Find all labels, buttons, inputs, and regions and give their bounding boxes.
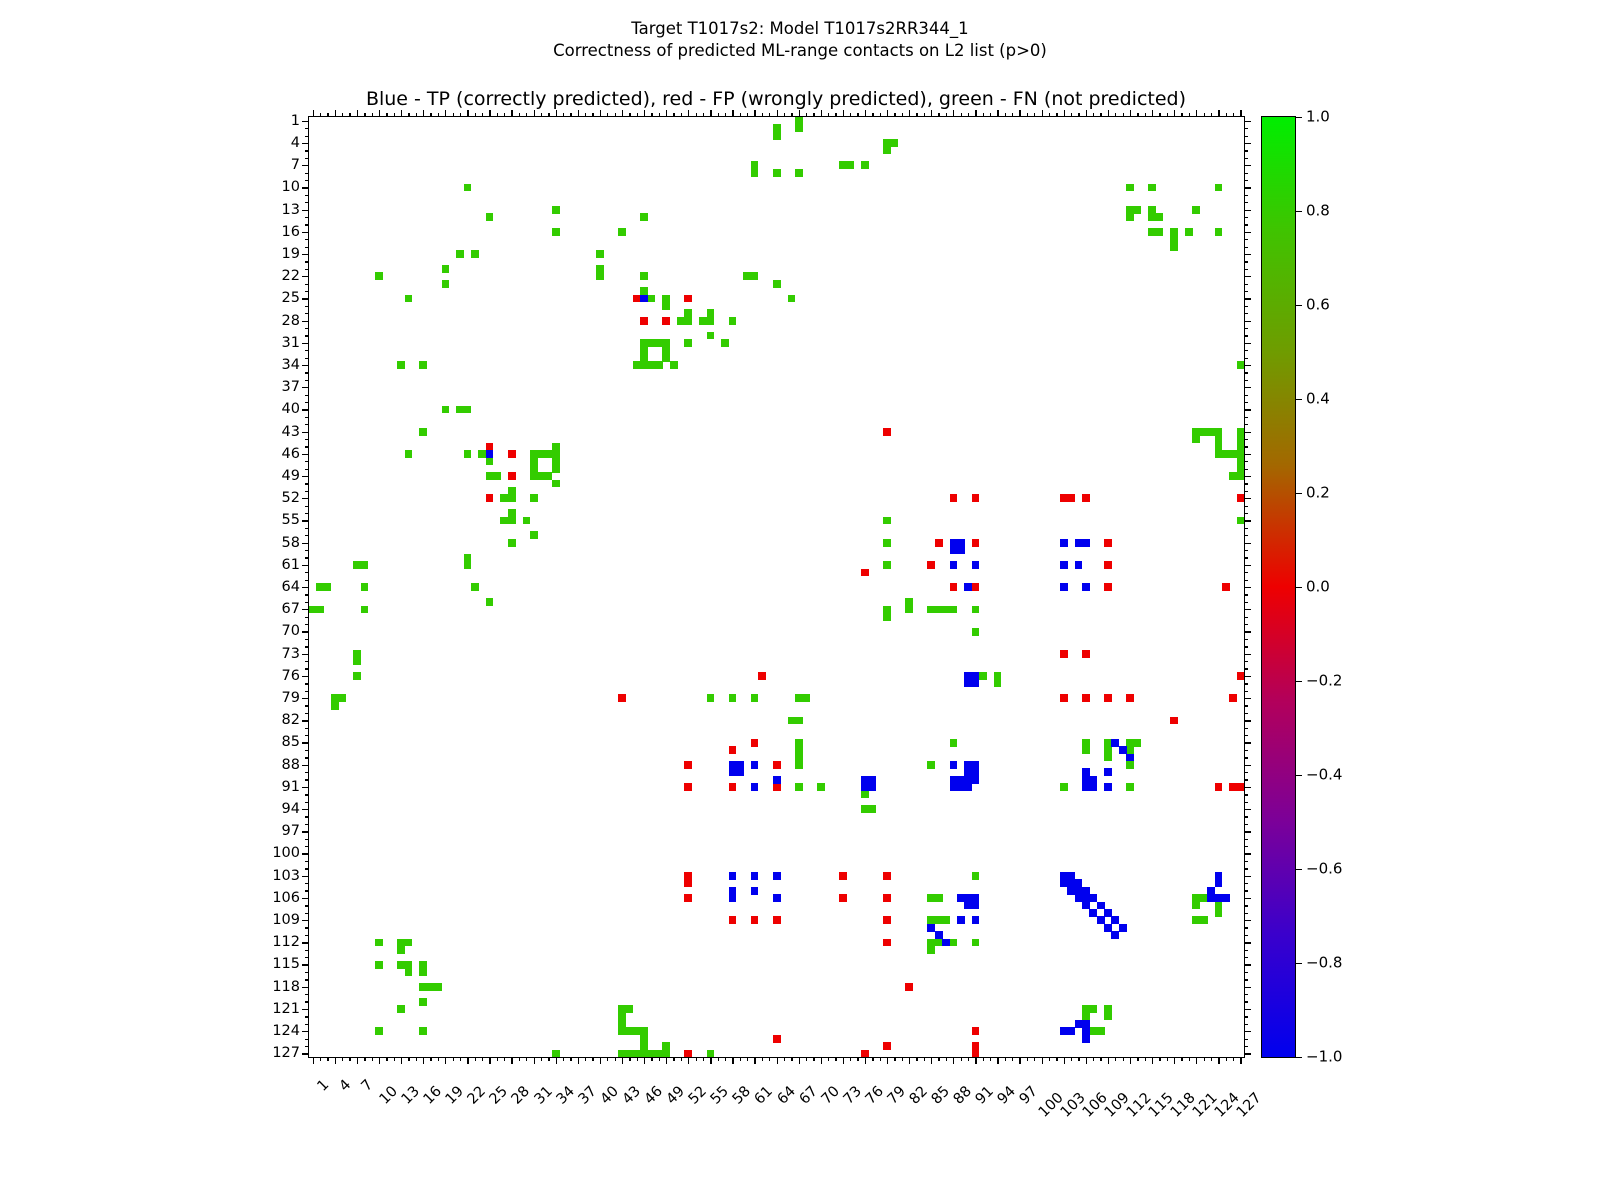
y-axis-tick-right xyxy=(1244,713,1248,714)
fn-cell xyxy=(1185,228,1193,236)
fn-cell xyxy=(773,169,781,177)
fn-cell xyxy=(869,805,877,813)
x-axis-tick xyxy=(777,1057,778,1064)
y-axis-tick xyxy=(302,165,309,166)
fn-cell xyxy=(972,939,980,947)
fn-cell xyxy=(508,539,516,547)
fn-cell xyxy=(464,184,472,192)
y-axis-tick-right xyxy=(1244,121,1251,122)
fp-cell xyxy=(883,916,891,924)
tp-cell xyxy=(736,768,744,776)
fn-cell xyxy=(795,717,803,725)
x-axis-tick-top xyxy=(453,113,454,117)
tp-cell xyxy=(972,680,980,688)
y-axis-tick-right xyxy=(1244,765,1251,766)
y-axis-tick-right xyxy=(1244,987,1251,988)
fn-cell xyxy=(1104,754,1112,762)
y-axis-tick xyxy=(305,247,309,248)
y-axis-label: 76 xyxy=(282,669,300,684)
x-axis-tick-top xyxy=(924,113,925,117)
x-axis-tick-top xyxy=(313,110,314,117)
x-axis-label: 127 xyxy=(1235,1091,1265,1121)
x-axis-tick-top xyxy=(1211,113,1212,117)
y-axis-tick xyxy=(302,676,309,677)
x-axis-tick xyxy=(1167,1057,1168,1061)
y-axis-tick xyxy=(305,128,309,129)
y-axis-tick-right xyxy=(1244,557,1248,558)
x-axis-tick-top xyxy=(504,113,505,117)
fn-cell xyxy=(500,494,508,502)
y-axis-tick xyxy=(305,1016,309,1017)
fn-cell xyxy=(1192,206,1200,214)
fp-cell xyxy=(935,539,943,547)
y-axis-tick-right xyxy=(1244,261,1248,262)
x-axis-label: 10 xyxy=(377,1084,400,1107)
x-axis-tick xyxy=(570,1057,571,1061)
x-axis-label: 76 xyxy=(863,1084,886,1107)
tp-cell xyxy=(1222,894,1230,902)
x-axis-tick-top xyxy=(1181,113,1182,117)
x-axis-tick xyxy=(916,1057,917,1061)
fn-cell xyxy=(994,680,1002,688)
fn-cell xyxy=(464,450,472,458)
x-axis-tick xyxy=(585,1057,586,1061)
x-axis-label: 7 xyxy=(359,1078,376,1095)
x-axis-tick-top xyxy=(828,113,829,117)
x-axis-tick-top xyxy=(762,113,763,117)
y-axis-tick-right xyxy=(1244,728,1248,729)
tp-cell xyxy=(751,887,759,895)
x-axis-tick xyxy=(460,1057,461,1061)
y-axis-tick-right xyxy=(1244,846,1248,847)
x-axis-tick-top xyxy=(1167,113,1168,117)
x-axis-tick-top xyxy=(725,113,726,117)
y-axis-tick-right xyxy=(1244,498,1251,499)
x-axis-tick xyxy=(541,1057,542,1061)
fn-cell xyxy=(751,169,759,177)
contact-map-cells xyxy=(309,117,1244,1057)
fp-cell xyxy=(839,872,847,880)
colorbar-label: 0.8 xyxy=(1306,204,1330,219)
y-axis-tick xyxy=(302,1053,309,1054)
y-axis-tick xyxy=(305,883,309,884)
y-axis-label: 4 xyxy=(291,136,300,151)
x-axis-tick xyxy=(615,1057,616,1061)
contact-map-plot-area[interactable]: 1144771010131316161919222225252828313134… xyxy=(308,116,1245,1058)
colorbar-tick xyxy=(1295,399,1302,400)
y-axis-tick xyxy=(305,661,309,662)
y-axis-tick xyxy=(305,890,309,891)
x-axis-tick xyxy=(997,1057,998,1064)
y-axis-tick xyxy=(302,210,309,211)
tp-cell xyxy=(942,939,950,947)
y-axis-tick xyxy=(305,750,309,751)
y-axis-label: 124 xyxy=(272,1024,300,1039)
x-axis-tick xyxy=(357,1057,358,1064)
fn-cell xyxy=(1104,1013,1112,1021)
x-axis-tick-top xyxy=(401,110,402,117)
x-axis-tick-top xyxy=(865,110,866,117)
fn-cell xyxy=(795,783,803,791)
colorbar-label: −0.4 xyxy=(1306,768,1342,783)
fp-cell xyxy=(618,694,626,702)
x-axis-tick xyxy=(843,1057,844,1064)
y-axis-tick-right xyxy=(1244,298,1251,299)
y-axis-tick-right xyxy=(1244,853,1251,854)
y-axis-tick xyxy=(302,187,309,188)
y-axis-label: 97 xyxy=(282,824,300,839)
y-axis-tick-right xyxy=(1244,210,1251,211)
y-axis-tick-right xyxy=(1244,483,1248,484)
x-axis-tick-top xyxy=(357,110,358,117)
fp-cell xyxy=(1060,650,1068,658)
fn-cell xyxy=(1148,184,1156,192)
x-axis-tick xyxy=(556,1057,557,1064)
y-axis-tick xyxy=(302,565,309,566)
fp-cell xyxy=(729,746,737,754)
y-axis-tick xyxy=(305,979,309,980)
x-axis-tick-top xyxy=(784,113,785,117)
x-axis-tick-top xyxy=(556,110,557,117)
x-axis-tick xyxy=(629,1057,630,1061)
x-axis-tick-top xyxy=(320,113,321,117)
y-axis-tick xyxy=(305,572,309,573)
y-axis-tick xyxy=(302,654,309,655)
y-axis-tick xyxy=(302,853,309,854)
y-axis-tick-right xyxy=(1244,136,1248,137)
y-axis-tick-right xyxy=(1244,572,1248,573)
x-axis-tick-top xyxy=(548,113,549,117)
y-axis-tick-right xyxy=(1244,506,1248,507)
x-axis-tick xyxy=(482,1057,483,1061)
y-axis-tick-right xyxy=(1244,609,1251,610)
fp-cell xyxy=(1082,694,1090,702)
colorbar-tick xyxy=(1295,869,1302,870)
y-axis-tick-right xyxy=(1244,580,1248,581)
x-axis-tick-top xyxy=(1152,110,1153,117)
y-axis-label: 49 xyxy=(282,469,300,484)
x-axis-tick xyxy=(526,1057,527,1061)
y-axis-tick xyxy=(305,580,309,581)
y-axis-tick xyxy=(305,506,309,507)
y-axis-tick-right xyxy=(1244,824,1248,825)
fp-cell xyxy=(773,1035,781,1043)
x-axis-tick xyxy=(673,1057,674,1061)
tp-cell xyxy=(1111,931,1119,939)
y-axis-label: 103 xyxy=(272,868,300,883)
x-axis-tick xyxy=(1211,1057,1212,1061)
y-axis-tick-right xyxy=(1244,417,1248,418)
x-axis-tick xyxy=(659,1057,660,1061)
x-axis-label: 67 xyxy=(797,1084,820,1107)
fp-cell xyxy=(684,761,692,769)
x-axis-tick xyxy=(1189,1057,1190,1061)
x-axis-tick-top xyxy=(953,110,954,117)
y-axis-tick-right xyxy=(1244,742,1251,743)
x-axis-tick xyxy=(408,1057,409,1061)
x-axis-tick xyxy=(1012,1057,1013,1061)
y-axis-tick xyxy=(305,868,309,869)
tp-cell xyxy=(729,872,737,880)
y-axis-tick-right xyxy=(1244,128,1248,129)
x-axis-tick-top xyxy=(1123,113,1124,117)
fp-cell xyxy=(729,783,737,791)
x-axis-tick xyxy=(857,1057,858,1061)
fn-cell xyxy=(817,783,825,791)
x-axis-tick-top xyxy=(1137,113,1138,117)
y-axis-tick-right xyxy=(1244,927,1248,928)
y-axis-tick xyxy=(305,735,309,736)
fn-cell xyxy=(397,946,405,954)
x-axis-tick-top xyxy=(909,110,910,117)
fn-cell xyxy=(552,480,560,488)
y-axis-tick-right xyxy=(1244,387,1251,388)
x-axis-tick xyxy=(423,1057,424,1064)
x-axis-tick xyxy=(401,1057,402,1064)
y-axis-tick-right xyxy=(1244,313,1248,314)
fp-cell xyxy=(972,494,980,502)
fn-cell xyxy=(1089,1005,1097,1013)
fn-cell xyxy=(1097,1027,1105,1035)
x-axis-tick xyxy=(1064,1057,1065,1064)
y-axis-tick-right xyxy=(1244,735,1248,736)
y-axis-label: 22 xyxy=(282,269,300,284)
x-axis-tick-top xyxy=(799,110,800,117)
fn-cell xyxy=(707,317,715,325)
fp-cell xyxy=(751,916,759,924)
y-axis-tick-right xyxy=(1244,802,1248,803)
y-axis-label: 64 xyxy=(282,580,300,595)
fn-cell xyxy=(618,228,626,236)
fp-cell xyxy=(662,317,670,325)
fn-cell xyxy=(405,295,413,303)
fn-cell xyxy=(972,606,980,614)
x-axis-tick-top xyxy=(703,113,704,117)
x-axis-tick-top xyxy=(394,113,395,117)
colorbar-label: 1.0 xyxy=(1306,110,1330,125)
y-axis-tick-right xyxy=(1244,173,1248,174)
fn-cell xyxy=(493,472,501,480)
y-axis-tick xyxy=(305,713,309,714)
tp-cell xyxy=(640,295,648,303)
x-axis-tick-top xyxy=(961,113,962,117)
tp-cell xyxy=(751,761,759,769)
x-axis-tick xyxy=(1226,1057,1227,1061)
x-axis-tick xyxy=(1049,1057,1050,1061)
x-axis-tick-top xyxy=(482,113,483,117)
fn-cell xyxy=(486,598,494,606)
y-axis-tick xyxy=(305,350,309,351)
x-axis-tick-top xyxy=(445,110,446,117)
y-axis-tick xyxy=(305,469,309,470)
fn-cell xyxy=(353,657,361,665)
x-axis-tick-top xyxy=(1226,113,1227,117)
fp-cell xyxy=(1104,694,1112,702)
x-axis-tick-top xyxy=(681,113,682,117)
y-axis-tick-right xyxy=(1244,809,1251,810)
fn-cell xyxy=(935,894,943,902)
x-axis-tick xyxy=(747,1057,748,1061)
colorbar-label: −1.0 xyxy=(1306,1050,1342,1065)
y-axis-tick-right xyxy=(1244,321,1251,322)
y-axis-tick xyxy=(305,1001,309,1002)
y-axis-label: 85 xyxy=(282,735,300,750)
y-axis-tick-right xyxy=(1244,1009,1251,1010)
fp-cell xyxy=(1222,583,1230,591)
y-axis-label: 79 xyxy=(282,691,300,706)
y-axis-tick-right xyxy=(1244,395,1248,396)
fn-cell xyxy=(1126,213,1134,221)
y-axis-tick xyxy=(302,920,309,921)
x-axis-tick-top xyxy=(1204,113,1205,117)
y-axis-tick xyxy=(302,476,309,477)
x-axis-tick xyxy=(430,1057,431,1061)
y-axis-tick xyxy=(305,195,309,196)
x-axis-tick xyxy=(813,1057,814,1061)
fn-cell xyxy=(655,361,663,369)
y-axis-tick xyxy=(302,298,309,299)
x-axis-tick-top xyxy=(1012,113,1013,117)
y-axis-tick-right xyxy=(1244,617,1248,618)
y-axis-tick-right xyxy=(1244,269,1248,270)
x-axis-tick-top xyxy=(1034,113,1035,117)
x-axis-tick xyxy=(453,1057,454,1061)
x-axis-tick-top xyxy=(349,113,350,117)
colorbar-tick xyxy=(1295,775,1302,776)
y-axis-label: 106 xyxy=(272,891,300,906)
x-axis-tick xyxy=(946,1057,947,1061)
x-axis-tick xyxy=(578,1057,579,1064)
x-axis-label: 19 xyxy=(444,1084,467,1107)
fp-cell xyxy=(1104,583,1112,591)
y-axis-tick xyxy=(302,432,309,433)
x-axis-tick xyxy=(961,1057,962,1061)
x-axis-tick-top xyxy=(1005,113,1006,117)
fn-cell xyxy=(662,302,670,310)
fp-cell xyxy=(684,872,692,880)
y-axis-tick-right xyxy=(1244,624,1248,625)
x-axis-tick-top xyxy=(622,110,623,117)
tp-cell xyxy=(957,546,965,554)
y-axis-tick-right xyxy=(1244,232,1251,233)
fn-cell xyxy=(361,561,369,569)
y-axis-tick-right xyxy=(1244,935,1248,936)
y-axis-tick-right xyxy=(1244,587,1251,588)
x-axis-tick xyxy=(725,1057,726,1061)
fn-cell xyxy=(883,613,891,621)
y-axis-tick-right xyxy=(1244,432,1251,433)
y-axis-label: 73 xyxy=(282,646,300,661)
y-axis-label: 94 xyxy=(282,802,300,817)
fn-cell xyxy=(633,1027,641,1035)
fp-cell xyxy=(927,561,935,569)
fn-cell xyxy=(552,465,560,473)
y-axis-tick xyxy=(305,417,309,418)
x-axis-tick-top xyxy=(821,110,822,117)
y-axis-tick-right xyxy=(1244,950,1248,951)
x-axis-tick-top xyxy=(673,113,674,117)
colorbar-label: −0.6 xyxy=(1306,862,1342,877)
fn-cell xyxy=(861,161,869,169)
x-axis-tick xyxy=(791,1057,792,1061)
fn-cell xyxy=(596,250,604,258)
x-axis-tick-top xyxy=(1042,110,1043,117)
y-axis-tick-right xyxy=(1244,691,1248,692)
fn-cell xyxy=(795,761,803,769)
y-axis-tick xyxy=(305,136,309,137)
x-axis-tick-top xyxy=(364,113,365,117)
x-axis-tick xyxy=(850,1057,851,1061)
fn-cell xyxy=(1156,213,1164,221)
y-axis-tick xyxy=(305,439,309,440)
colorbar-label: 0.6 xyxy=(1306,298,1330,313)
fn-cell xyxy=(442,280,450,288)
tp-cell xyxy=(773,894,781,902)
fp-cell xyxy=(1170,717,1178,725)
tp-cell xyxy=(486,450,494,458)
y-axis-tick xyxy=(305,239,309,240)
fp-cell xyxy=(640,317,648,325)
y-axis-tick xyxy=(305,927,309,928)
tp-cell xyxy=(964,783,972,791)
x-axis-label: 16 xyxy=(421,1084,444,1107)
x-axis-tick-top xyxy=(585,113,586,117)
y-axis-tick xyxy=(305,816,309,817)
y-axis-tick xyxy=(302,321,309,322)
y-axis-label: 109 xyxy=(272,913,300,928)
x-axis-tick-top xyxy=(541,113,542,117)
x-axis-tick xyxy=(622,1057,623,1064)
x-axis-tick xyxy=(519,1057,520,1061)
fn-cell xyxy=(788,295,796,303)
y-axis-tick-right xyxy=(1244,1046,1248,1047)
y-axis-tick xyxy=(305,528,309,529)
y-axis-tick-right xyxy=(1244,195,1248,196)
y-axis-tick-right xyxy=(1244,720,1251,721)
fn-cell xyxy=(972,872,980,880)
fn-cell xyxy=(405,939,413,947)
x-axis-tick-top xyxy=(629,113,630,117)
tp-cell xyxy=(1104,768,1112,776)
y-axis-label: 10 xyxy=(282,180,300,195)
x-axis-tick-top xyxy=(968,113,969,117)
x-axis-tick xyxy=(688,1057,689,1064)
x-axis-tick-top xyxy=(1145,113,1146,117)
y-axis-tick xyxy=(305,905,309,906)
y-axis-tick xyxy=(305,794,309,795)
x-axis-tick-top xyxy=(1064,110,1065,117)
x-axis-tick xyxy=(1145,1057,1146,1061)
fn-cell xyxy=(707,694,715,702)
y-axis-label: 46 xyxy=(282,447,300,462)
fn-cell xyxy=(456,250,464,258)
x-axis-tick xyxy=(1108,1057,1109,1064)
y-axis-tick xyxy=(305,395,309,396)
x-axis-tick-top xyxy=(438,113,439,117)
y-axis-label: 25 xyxy=(282,291,300,306)
x-axis-tick xyxy=(887,1057,888,1064)
x-axis-tick xyxy=(681,1057,682,1061)
fn-cell xyxy=(707,332,715,340)
x-axis-tick xyxy=(1042,1057,1043,1064)
y-axis-tick xyxy=(305,683,309,684)
x-axis-tick-top xyxy=(997,110,998,117)
x-axis-tick xyxy=(835,1057,836,1061)
x-axis-tick-top xyxy=(946,113,947,117)
fn-cell xyxy=(883,539,891,547)
y-axis-tick xyxy=(305,1039,309,1040)
x-axis-tick xyxy=(718,1057,719,1061)
